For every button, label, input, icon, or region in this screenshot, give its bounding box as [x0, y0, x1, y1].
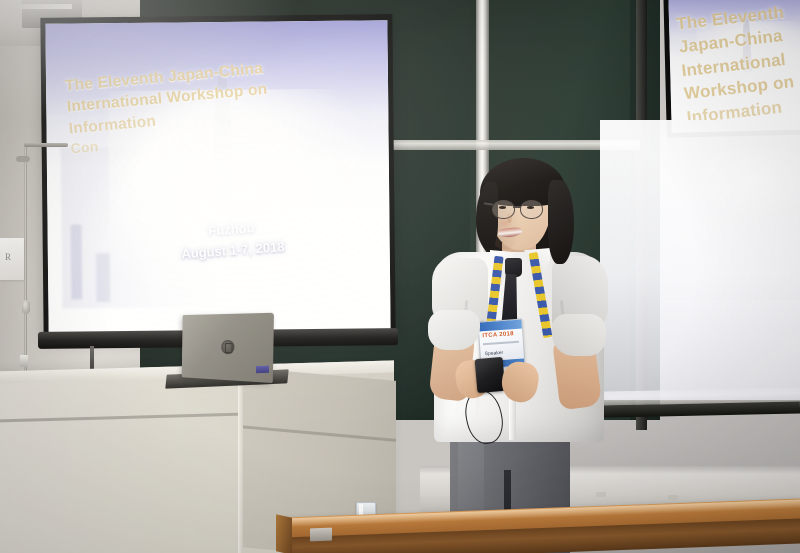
- laptop-port-badge: [256, 366, 269, 373]
- handheld-camera-remote[interactable]: [475, 357, 506, 393]
- eyeglasses-lens-right: [520, 200, 543, 219]
- wall-bracket: [24, 143, 68, 147]
- presenter-nose: [507, 212, 512, 223]
- presenter-eye-right: [527, 206, 534, 209]
- wall-outlet-icon: [668, 495, 678, 500]
- table-cable-port: [310, 528, 332, 542]
- shirt-sleeve-right: [552, 314, 606, 356]
- wall-bracket-small: [16, 156, 30, 162]
- slide-title: The Eleventh Japan-China International W…: [675, 0, 800, 133]
- badge-logo-text: ITCA 2018: [482, 331, 514, 339]
- lectern-corner-edge: [238, 368, 243, 553]
- wall-sign-text: R: [5, 252, 11, 262]
- wall-sign: R: [0, 238, 24, 280]
- wall-knob: [22, 300, 30, 314]
- secondary-screen-surface: The Eleventh Japan-China International W…: [668, 0, 800, 133]
- badge-name-text: Speaker: [484, 350, 503, 357]
- secondary-projection-screen: The Eleventh Japan-China International W…: [663, 0, 800, 138]
- badge-divider: [483, 341, 519, 346]
- glass-highlight: [359, 504, 363, 515]
- wall-switch[interactable]: [20, 355, 28, 367]
- eyeglasses-bridge: [513, 206, 521, 208]
- right-screen-glare: [690, 150, 800, 220]
- ceiling-light-spill: [0, 0, 300, 120]
- photo-scene: The Eleventh Japan-China International W…: [0, 0, 800, 553]
- presenter-hair-side-right: [548, 180, 574, 264]
- wall-conduit: [24, 143, 27, 383]
- dell-logo-icon: [221, 340, 234, 354]
- shirt-sleeve-left: [428, 310, 480, 350]
- presenter-eye-left: [499, 206, 506, 209]
- badge-header-strip: [478, 320, 522, 332]
- wooden-table-end-panel: [276, 514, 292, 553]
